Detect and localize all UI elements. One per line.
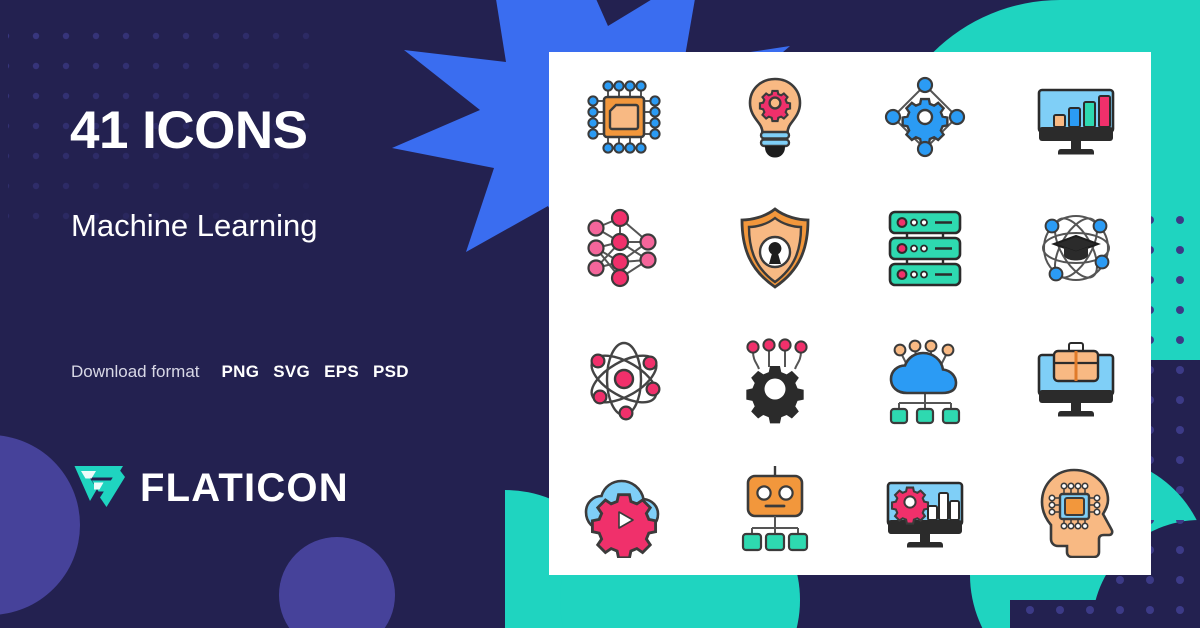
icon-cell-9[interactable] [549,314,700,445]
page-title: 41 ICONS [70,104,308,157]
server-rack-icon [877,200,973,296]
icon-cell-3[interactable] [850,52,1001,183]
icon-preview-card [549,52,1151,575]
pack-subtitle: Machine Learning [71,210,317,241]
monitor-bar-chart-icon [1028,69,1124,165]
icon-cell-8[interactable] [1001,183,1152,314]
robot-network-icon [727,462,823,558]
icon-cell-14[interactable] [700,444,851,575]
download-format-label: Download format [71,362,200,382]
gear-network-diamond-icon [877,69,973,165]
head-chip-ai-icon [1028,462,1124,558]
monitor-briefcase-icon [1028,331,1124,427]
icon-cell-7[interactable] [850,183,1001,314]
shield-keyhole-icon [727,200,823,296]
flaticon-wordmark: FLATICON [140,468,349,508]
format-psd[interactable]: PSD [373,362,409,382]
icon-cell-10[interactable] [700,314,851,445]
flaticon-logo[interactable]: FLATICON [72,462,349,514]
icon-cell-15[interactable] [850,444,1001,575]
atom-icon [576,331,672,427]
neural-network-icon [576,200,672,296]
download-format-row: Download format PNG SVG EPS PSD [71,362,409,382]
poster-text-column: 41 ICONS Machine Learning Download forma… [70,0,540,628]
format-eps[interactable]: EPS [324,362,359,382]
format-svg[interactable]: SVG [273,362,310,382]
microprocessor-chip-icon [576,69,672,165]
icon-cell-6[interactable] [700,183,851,314]
icon-cell-1[interactable] [549,52,700,183]
lightbulb-gear-icon [727,69,823,165]
icon-cell-11[interactable] [850,314,1001,445]
poster-canvas: 41 ICONS Machine Learning Download forma… [0,0,1200,628]
format-png[interactable]: PNG [222,362,260,382]
cloud-network-icon [877,331,973,427]
flaticon-mark-icon [72,462,126,514]
atom-graduation-cap-icon [1028,200,1124,296]
icon-grid [549,52,1151,575]
format-list: PNG SVG EPS PSD [222,362,409,382]
monitor-gear-chart-icon [877,462,973,558]
icon-cell-5[interactable] [549,183,700,314]
icon-cell-13[interactable] [549,444,700,575]
icon-cell-2[interactable] [700,52,851,183]
gear-nodes-icon [727,331,823,427]
icon-cell-4[interactable] [1001,52,1152,183]
icon-cell-12[interactable] [1001,314,1152,445]
icon-cell-16[interactable] [1001,444,1152,575]
cloud-gear-play-icon [576,462,672,558]
